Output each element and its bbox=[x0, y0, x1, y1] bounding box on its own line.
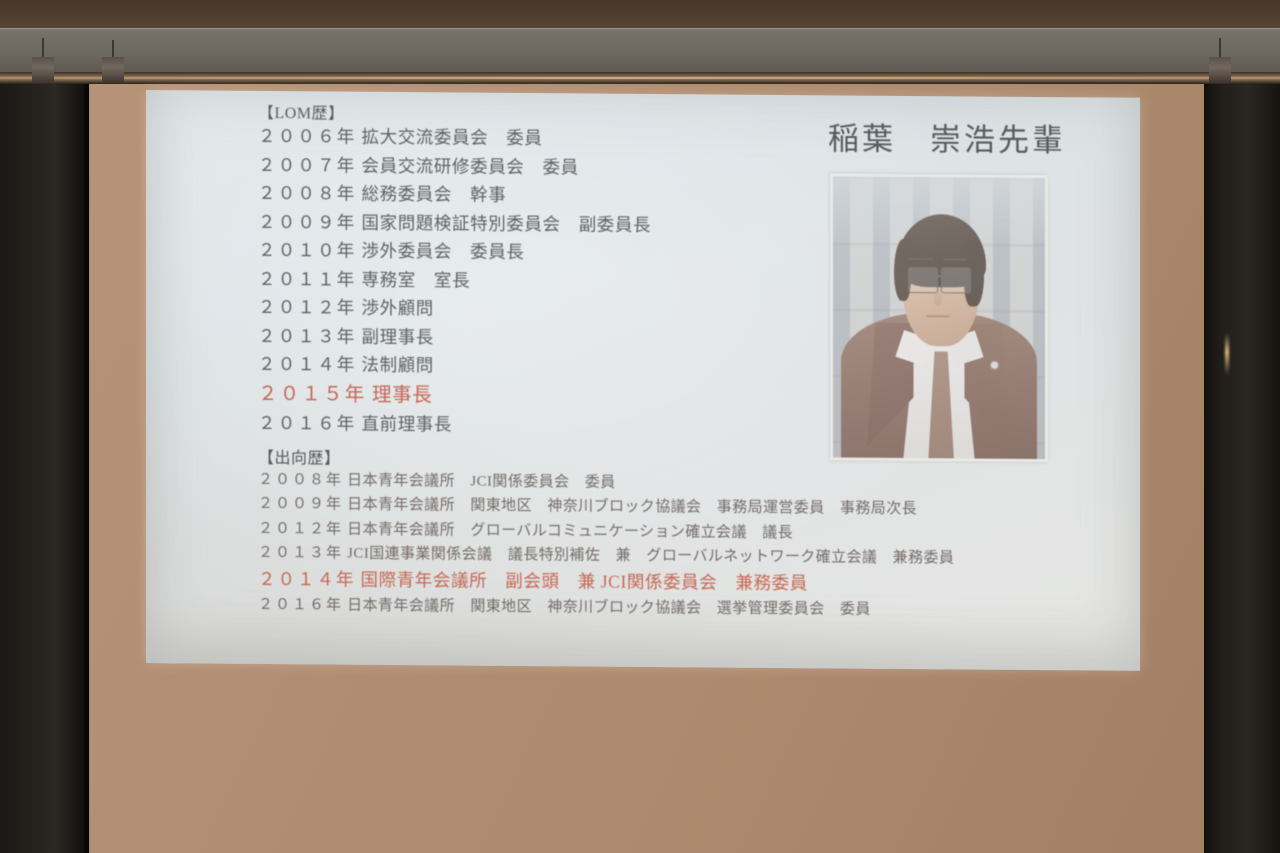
entry-year: ２０１６年 bbox=[258, 596, 343, 613]
history-entry: ２０１６年 日本青年会議所 関東地区 神奈川ブロック協議会 選挙管理委員会 委員 bbox=[146, 597, 1140, 620]
entry-text: 理事長 bbox=[372, 384, 432, 405]
entry-text: 日本青年会議所 グローバルコミュニケーション確立会議 議長 bbox=[347, 521, 793, 541]
entry-year: ２００７年 bbox=[258, 154, 357, 175]
entry-year: ２０１６年 bbox=[258, 413, 357, 434]
entry-text: 日本青年会議所 JCI関係委員会 委員 bbox=[347, 472, 615, 490]
rail-bracket-mid bbox=[102, 57, 124, 83]
entry-text: 日本青年会議所 関東地区 神奈川ブロック協議会 選挙管理委員会 委員 bbox=[347, 597, 871, 617]
curtain-left bbox=[0, 84, 89, 853]
history-entry: ２００８年 日本青年会議所 JCI関係委員会 委員 bbox=[146, 472, 1140, 495]
history-entry-highlighted: ２０１４年 国際青年会議所 副会頭 兼 JCI関係委員会 兼務委員 bbox=[146, 570, 1140, 595]
entry-year: ２０１２年 bbox=[258, 297, 357, 318]
entry-text: 総務委員会 幹事 bbox=[361, 184, 506, 205]
rail-bracket-left bbox=[32, 57, 54, 83]
entry-text: 副理事長 bbox=[361, 326, 433, 347]
entry-text: 渉外顧問 bbox=[361, 298, 433, 319]
rail-bracket-right bbox=[1209, 57, 1231, 83]
entry-text: 国際青年会議所 副会頭 兼 JCI関係委員会 兼務委員 bbox=[360, 569, 807, 593]
entry-year: ２００９年 bbox=[258, 496, 343, 513]
history-entry: ２０１２年 日本青年会議所 グローバルコミュニケーション確立会議 議長 bbox=[146, 521, 1140, 544]
entry-text: JCI国連事業関係会議 議長特別補佐 兼 グローバルネットワーク確立会議 兼務委… bbox=[347, 546, 954, 567]
curtain-light-leak bbox=[1225, 333, 1229, 375]
entry-year: ２００８年 bbox=[258, 183, 357, 204]
ceiling bbox=[0, 0, 1280, 30]
entry-year: ２０１０年 bbox=[258, 240, 357, 261]
entry-text: 日本青年会議所 関東地区 神奈川ブロック協議会 事務局運営委員 事務局次長 bbox=[347, 497, 917, 517]
entry-text: 拡大交流委員会 委員 bbox=[361, 127, 542, 148]
ceiling-soffit-beam bbox=[0, 28, 1280, 75]
lom-history-list: ２００６年 拡大交流委員会 委員 ２００７年 会員交流研修委員会 委員 ２００８… bbox=[146, 127, 1140, 439]
entry-year: ２００９年 bbox=[258, 211, 357, 232]
entry-year: ２０１３年 bbox=[258, 325, 357, 346]
entry-year: ２０１４年 bbox=[258, 354, 357, 375]
entry-year: ２０１４年 bbox=[258, 568, 356, 589]
history-entry: ２００９年 日本青年会議所 関東地区 神奈川ブロック協議会 事務局運営委員 事務… bbox=[146, 496, 1140, 519]
entry-year: ２０１２年 bbox=[258, 520, 343, 537]
entry-text: 渉外委員会 委員長 bbox=[361, 241, 524, 262]
entry-year: ２０１１年 bbox=[258, 268, 357, 289]
entry-text: 会員交流研修委員会 委員 bbox=[361, 155, 578, 177]
curtain-left-edge-shadow bbox=[84, 84, 90, 853]
entry-year: ２０１５年 bbox=[258, 383, 367, 405]
deployment-history-list: ２００８年 日本青年会議所 JCI関係委員会 委員 ２００９年 日本青年会議所 … bbox=[146, 472, 1140, 620]
curtain-right bbox=[1204, 84, 1280, 853]
curtain-rail-highlight bbox=[0, 77, 1280, 79]
entry-year: ２００６年 bbox=[258, 126, 357, 147]
entry-text: 専務室 室長 bbox=[361, 269, 470, 290]
entry-year: ２００８年 bbox=[258, 471, 343, 488]
projected-slide: 稲葉 崇浩先輩 bbox=[146, 90, 1140, 671]
section-heading-lom: 【LOM歴】 bbox=[146, 98, 1140, 130]
projection-room-scene: 稲葉 崇浩先輩 bbox=[0, 0, 1280, 853]
entry-text: 国家問題検証特別委員会 副委員長 bbox=[361, 212, 651, 234]
entry-year: ２０１３年 bbox=[258, 545, 343, 562]
entry-text: 直前理事長 bbox=[361, 414, 452, 435]
history-entry: ２０１３年 JCI国連事業関係会議 議長特別補佐 兼 グローバルネットワーク確立… bbox=[146, 545, 1140, 568]
entry-text: 法制顧問 bbox=[361, 355, 433, 376]
